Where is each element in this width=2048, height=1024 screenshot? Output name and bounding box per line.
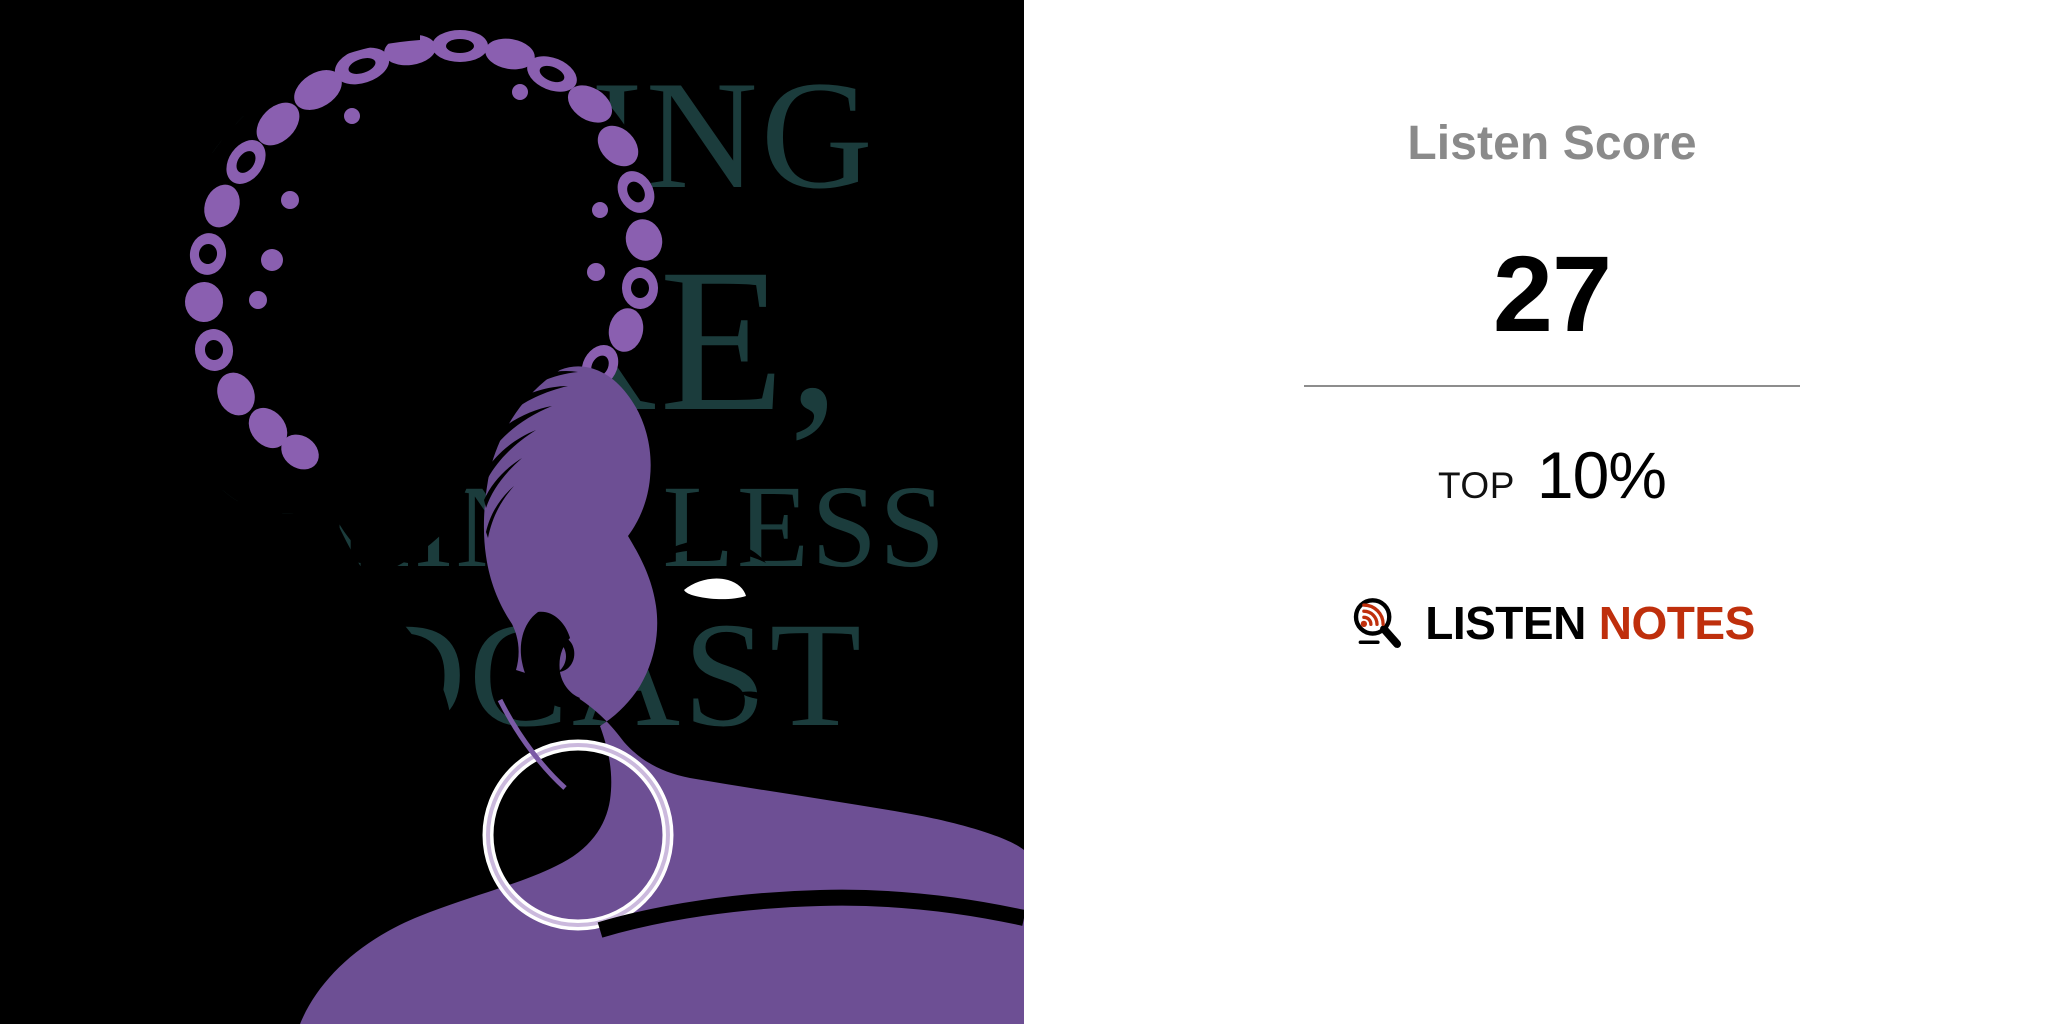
listen-score-value: 27 — [1304, 235, 1800, 354]
woman-profile-illustration — [0, 0, 1024, 1024]
nostril — [742, 691, 770, 700]
listen-notes-logo[interactable]: LISTEN NOTES — [1304, 595, 1800, 651]
listen-score-rank: TOP 10% — [1304, 437, 1800, 513]
listen-score-card: NOTHING MORE, NOTHING LESS PODCAST — [0, 0, 2048, 1024]
listen-score-panel: Listen Score 27 TOP 10% — [1024, 0, 2048, 1024]
listen-score-title: Listen Score — [1304, 118, 1800, 171]
rank-label: TOP — [1438, 465, 1515, 507]
eyebrow — [662, 540, 766, 563]
lips — [780, 750, 810, 766]
listen-score-divider — [1304, 385, 1800, 387]
logo-word-listen: LISTEN — [1425, 600, 1586, 646]
magnifier-rss-icon — [1349, 595, 1405, 651]
logo-word-notes: NOTES — [1599, 600, 1755, 646]
listen-score-panel-inner: Listen Score 27 TOP 10% — [1304, 0, 1800, 1024]
podcast-cover-art[interactable]: NOTHING MORE, NOTHING LESS PODCAST — [0, 0, 1024, 1024]
rank-value: 10% — [1537, 437, 1666, 513]
